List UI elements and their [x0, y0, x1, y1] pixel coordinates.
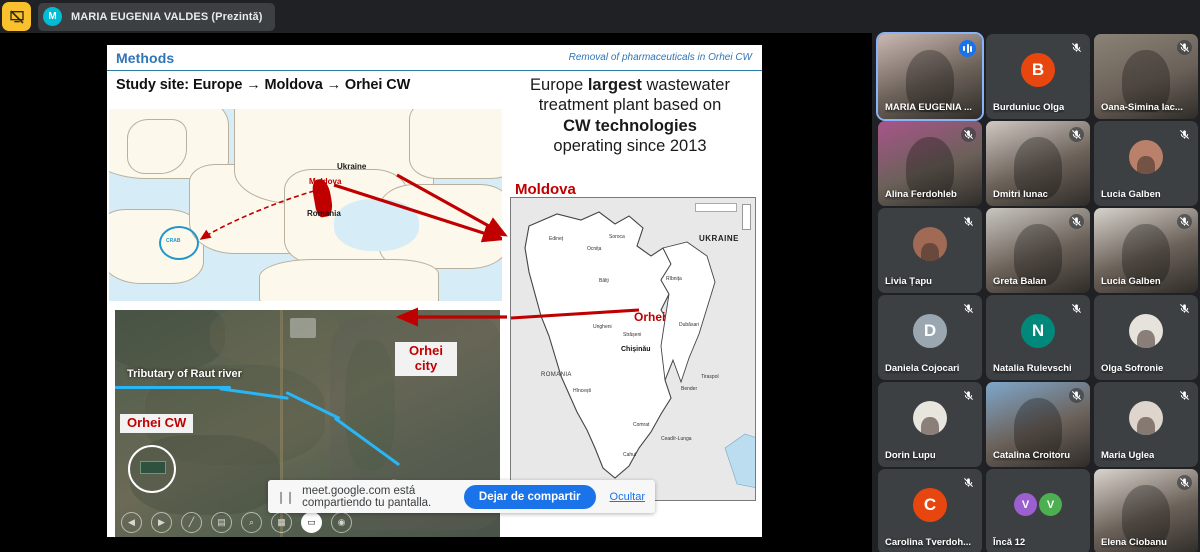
mic-off-icon	[1069, 388, 1084, 403]
participant-tile[interactable]: BBurduniuc Olga	[986, 34, 1090, 119]
participant-name: Livia Țapu	[885, 276, 932, 287]
mic-off-icon	[961, 127, 976, 142]
search-icon[interactable]: ⌕	[241, 512, 262, 533]
participant-name: Greta Balan	[993, 276, 1046, 287]
mic-off-icon	[1177, 40, 1192, 55]
top-bar: M MARIA EUGENIA VALDES (Prezintă)	[0, 0, 1200, 33]
river-label: Tributary of Raut river	[127, 368, 242, 380]
terrain-patch	[115, 310, 225, 370]
town-label: Ungheni	[593, 324, 612, 330]
participant-name: Dorin Lupu	[885, 450, 936, 461]
mic-off-icon	[961, 388, 976, 403]
participant-tile[interactable]: Alina Ferdohleb	[878, 121, 982, 206]
slide-section-subtitle: Removal of pharmaceuticals in Orhei CW	[569, 52, 752, 63]
participant-name: Natalia Rulevschi	[993, 363, 1072, 374]
building	[290, 318, 316, 338]
hide-notification-link[interactable]: Ocultar	[610, 491, 645, 503]
participant-name: Elena Ciobanu	[1101, 537, 1167, 548]
mic-off-icon	[1177, 388, 1192, 403]
participant-name: Lucia Galben	[1101, 276, 1161, 287]
participant-tile[interactable]: CCarolina Tverdoh...	[878, 469, 982, 552]
avatar: B	[1021, 53, 1055, 87]
mic-off-icon	[1069, 40, 1084, 55]
participant-name: Daniela Cojocari	[885, 363, 959, 374]
participant-tile[interactable]: Olga Sofronie	[1094, 295, 1198, 380]
google-meet-window: M MARIA EUGENIA VALDES (Prezintă) Method…	[0, 0, 1200, 552]
participant-name: Oana-Simina Iac...	[1101, 102, 1183, 113]
participant-tile[interactable]: Oana-Simina Iac...	[1094, 34, 1198, 119]
avatar	[1129, 401, 1163, 435]
participant-tile[interactable]: Livia Țapu	[878, 208, 982, 293]
europe-map: Ukraine Moldova Romania CRAB	[109, 109, 502, 301]
avatar: D	[913, 314, 947, 348]
town-label: Ceadîr-Lunga	[661, 436, 692, 442]
map-label-ukraine: UKRAINE	[699, 234, 739, 243]
participant-tile[interactable]: Maria Uglea	[1094, 382, 1198, 467]
study-site-line: Study site: Europe → Moldova → Orhei CW	[116, 77, 536, 93]
avatar: N	[1021, 314, 1055, 348]
mic-off-icon	[961, 214, 976, 229]
orhei-cw-label: Orhei CW	[120, 414, 193, 433]
mic-off-icon	[961, 475, 976, 490]
stop-sharing-button[interactable]: Dejar de compartir	[464, 485, 596, 509]
avatar	[1129, 314, 1163, 348]
mic-off-icon	[961, 301, 976, 316]
participant-tile[interactable]: Lucia Galben	[1094, 208, 1198, 293]
headline-line-4: operating since 2013	[505, 136, 755, 156]
participant-tile[interactable]: Catalina Croitoru	[986, 382, 1090, 467]
headline-line-1: Europe largest wastewater	[505, 75, 755, 95]
layers-icon[interactable]: ▤	[211, 512, 232, 533]
presenter-name: MARIA EUGENIA VALDES (Prezintă)	[71, 11, 263, 23]
map-label-romania: ROMANIA	[541, 372, 572, 378]
participant-tile[interactable]: Elena Ciobanu	[1094, 469, 1198, 552]
presenter-chip[interactable]: M MARIA EUGENIA VALDES (Prezintă)	[38, 3, 275, 31]
mic-off-icon	[1177, 475, 1192, 490]
mic-off-icon	[1069, 214, 1084, 229]
presentation-stage[interactable]: Methods Removal of pharmaceuticals in Or…	[0, 33, 872, 552]
participant-tile[interactable]: NNatalia Rulevschi	[986, 295, 1090, 380]
town-label: Edineț	[549, 236, 563, 242]
orhei-city-label: Orhei city	[395, 342, 457, 376]
europe-map-arrows	[109, 109, 502, 301]
participant-tile[interactable]: VVÎncă 12	[986, 469, 1090, 552]
participant-tile[interactable]: MARIA EUGENIA ...	[878, 34, 982, 119]
participant-tile[interactable]: Dorin Lupu	[878, 382, 982, 467]
overflow-avatars: VV	[1014, 493, 1062, 516]
pause-icon: ❙❙	[276, 490, 294, 504]
cw-highlight-circle	[128, 445, 176, 493]
record-video-icon[interactable]: ▭	[301, 512, 322, 533]
participant-name: Încă 12	[993, 537, 1025, 548]
back-icon[interactable]: ◀	[121, 512, 142, 533]
terrain-patch	[210, 310, 340, 365]
town-label: Bălți	[599, 278, 609, 284]
avatar	[1129, 140, 1163, 174]
town-label: Dubăsari	[679, 322, 699, 328]
headline-line-3: CW technologies	[505, 116, 755, 136]
avatar	[913, 401, 947, 435]
wetland-cells	[140, 461, 166, 474]
town-label: Cahul	[623, 452, 636, 458]
avatar: M	[43, 7, 62, 26]
participant-tile[interactable]: Lucia Galben	[1094, 121, 1198, 206]
avatar	[913, 227, 947, 261]
ruler-icon[interactable]: ╱	[181, 512, 202, 533]
participant-tile[interactable]: Greta Balan	[986, 208, 1090, 293]
avatar: C	[913, 488, 947, 522]
town-label: Strășeni	[623, 332, 641, 338]
town-label: Ocnița	[587, 246, 601, 252]
participant-tile[interactable]: Dmitri Iunac	[986, 121, 1090, 206]
grid-icon[interactable]: ▦	[271, 512, 292, 533]
headline-line-2: treatment plant based on	[505, 95, 755, 115]
participant-name: Carolina Tverdoh...	[885, 537, 971, 548]
town-label: Comrat	[633, 422, 649, 428]
slide-header: Methods Removal of pharmaceuticals in Or…	[107, 45, 762, 71]
town-label: Hîncești	[573, 388, 591, 394]
town-label: Rîbnița	[666, 276, 682, 282]
mic-off-icon	[1177, 214, 1192, 229]
participant-name: Alina Ferdohleb	[885, 189, 957, 200]
headline-block: Europe largest wastewater treatment plan…	[505, 75, 755, 157]
mic-off-icon	[1177, 301, 1192, 316]
map-label-capital: Chișinău	[621, 346, 651, 353]
moldova-map: UKRAINE ROMANIA Chișinău Orhei Edineț So…	[510, 197, 756, 501]
participant-name: Dmitri Iunac	[993, 189, 1048, 200]
participant-grid[interactable]: MARIA EUGENIA ...BBurduniuc OlgaOana-Sim…	[876, 34, 1200, 552]
pin-icon[interactable]: ◉	[331, 512, 352, 533]
town-label: Bender	[681, 386, 697, 392]
town-label: Soroca	[609, 234, 625, 240]
avatar: V	[1014, 493, 1037, 516]
river	[115, 386, 231, 389]
mic-off-icon	[1177, 127, 1192, 142]
terrain-patch	[345, 340, 395, 470]
stop-screenshare-glyph	[9, 9, 25, 25]
map-label-orhei: Orhei	[634, 310, 665, 324]
participant-name: Olga Sofronie	[1101, 363, 1163, 374]
mic-off-icon	[1069, 301, 1084, 316]
participant-name: Burduniuc Olga	[993, 102, 1064, 113]
participant-name: Maria Uglea	[1101, 450, 1154, 461]
slide-section-title: Methods	[116, 50, 174, 66]
screenshare-message: meet.google.com está compartiendo tu pan…	[302, 485, 464, 509]
speaking-indicator-icon	[959, 40, 976, 57]
participant-name: MARIA EUGENIA ...	[885, 102, 972, 113]
shared-slide: Methods Removal of pharmaceuticals in Or…	[107, 45, 762, 537]
moldova-heading: Moldova	[515, 181, 576, 198]
stop-screenshare-icon[interactable]	[2, 2, 31, 31]
participant-tile[interactable]: DDaniela Cojocari	[878, 295, 982, 380]
participant-name: Catalina Croitoru	[993, 450, 1070, 461]
play-icon[interactable]: ▶	[151, 512, 172, 533]
avatar: V	[1039, 493, 1062, 516]
participant-name: Lucia Galben	[1101, 189, 1161, 200]
town-label: Tiraspol	[701, 374, 719, 380]
mic-off-icon	[1069, 127, 1084, 142]
screenshare-notification: ❙❙ meet.google.com está compartiendo tu …	[268, 480, 655, 513]
